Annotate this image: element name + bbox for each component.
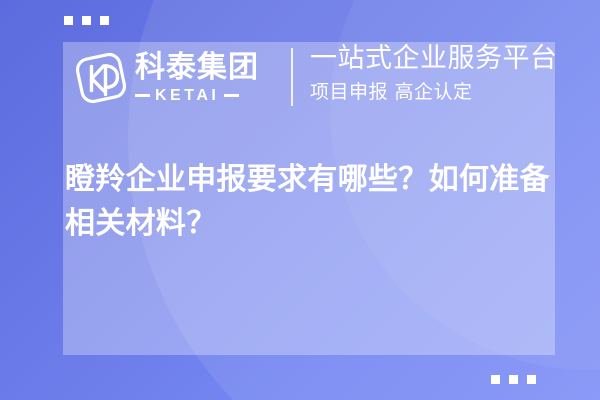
dots-bottom-right [491,375,536,384]
vertical-divider [291,48,293,106]
brand-name-en: KETAI [155,88,219,104]
rule-right [224,94,239,97]
slogan-block: 一站式企业服务平台 项目申报 高企认定 [310,43,558,104]
slogan-sub: 项目申报 高企认定 [310,81,558,104]
square-dot-icon [509,375,518,384]
slogan-main: 一站式企业服务平台 [310,43,558,75]
square-dot-icon [82,16,91,25]
brand-name-en-row: KETAI [135,88,259,104]
brand-name-cn: 科泰集团 [135,53,259,83]
rule-left [135,94,150,97]
square-dot-icon [527,375,536,384]
ketai-logo-icon [72,49,130,107]
dots-top-left [64,16,109,25]
square-dot-icon [100,16,109,25]
brand-wordmark: 科泰集团 KETAI [135,53,259,104]
square-dot-icon [491,375,500,384]
promo-banner: 科泰集团 KETAI 一站式企业服务平台 项目申报 高企认定 瞪羚企业申报要求有… [0,0,600,400]
square-dot-icon [64,16,73,25]
brand-lockup: 科泰集团 KETAI [72,44,259,112]
headline: 瞪羚企业申报要求有哪些？如何准备相关材料？ [65,158,560,246]
